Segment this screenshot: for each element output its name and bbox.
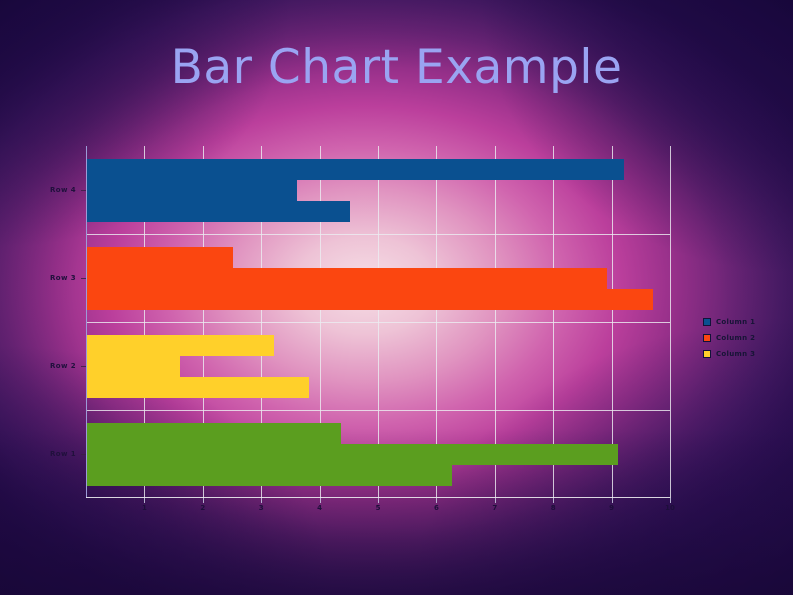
y-tick-mark — [81, 366, 86, 367]
legend-item-label: Column 2 — [716, 334, 755, 342]
y-tick-mark — [81, 278, 86, 279]
chart-bar[interactable] — [87, 356, 180, 377]
chart-legend: Column 1Column 2Column 3 — [703, 314, 783, 362]
chart-bar[interactable] — [87, 465, 452, 486]
x-tick-mark — [378, 498, 379, 503]
chart-bar[interactable] — [87, 335, 274, 356]
gridline-vertical — [670, 146, 671, 498]
chart-bar[interactable] — [87, 180, 297, 201]
y-tick-mark — [81, 454, 86, 455]
y-axis-label: Row 3 — [50, 274, 76, 282]
chart-bar[interactable] — [87, 268, 607, 289]
x-tick-mark — [203, 498, 204, 503]
x-axis-label: 1 — [142, 504, 147, 512]
x-axis-label: 7 — [492, 504, 497, 512]
slide-canvas: Bar Chart Example 12345678910Row 4Row 3R… — [0, 0, 793, 595]
chart-bar[interactable] — [87, 444, 618, 465]
gridline-horizontal — [86, 322, 670, 323]
y-axis-label: Row 1 — [50, 450, 76, 458]
x-axis-label: 5 — [376, 504, 381, 512]
legend-item[interactable]: Column 3 — [703, 346, 783, 362]
x-axis-label: 6 — [434, 504, 439, 512]
chart-bar[interactable] — [87, 423, 341, 444]
x-axis-label: 2 — [200, 504, 205, 512]
chart-bar[interactable] — [87, 289, 653, 310]
chart-bar[interactable] — [87, 377, 309, 398]
x-axis-label: 3 — [259, 504, 264, 512]
gridline-horizontal — [86, 410, 670, 411]
x-axis-label: 4 — [317, 504, 322, 512]
x-tick-mark — [261, 498, 262, 503]
x-tick-mark — [670, 498, 671, 503]
x-axis-label: 10 — [665, 504, 675, 512]
legend-swatch-icon — [703, 350, 711, 358]
x-axis-label: 9 — [609, 504, 614, 512]
x-tick-mark — [320, 498, 321, 503]
chart-bar[interactable] — [87, 159, 624, 180]
chart-plot-area: 12345678910Row 4Row 3Row 2Row 1 — [86, 146, 670, 498]
legend-item-label: Column 1 — [716, 318, 755, 326]
legend-swatch-icon — [703, 318, 711, 326]
x-tick-mark — [144, 498, 145, 503]
chart-title: Bar Chart Example — [0, 42, 793, 94]
x-tick-mark — [436, 498, 437, 503]
x-axis-label: 8 — [551, 504, 556, 512]
y-axis-label: Row 4 — [50, 186, 76, 194]
x-tick-mark — [495, 498, 496, 503]
y-axis-label: Row 2 — [50, 362, 76, 370]
legend-item[interactable]: Column 2 — [703, 330, 783, 346]
legend-swatch-icon — [703, 334, 711, 342]
y-tick-mark — [81, 190, 86, 191]
legend-item-label: Column 3 — [716, 350, 755, 358]
chart-bar[interactable] — [87, 247, 233, 268]
x-tick-mark — [612, 498, 613, 503]
legend-item[interactable]: Column 1 — [703, 314, 783, 330]
chart-bar[interactable] — [87, 201, 350, 222]
gridline-horizontal — [86, 234, 670, 235]
x-tick-mark — [553, 498, 554, 503]
